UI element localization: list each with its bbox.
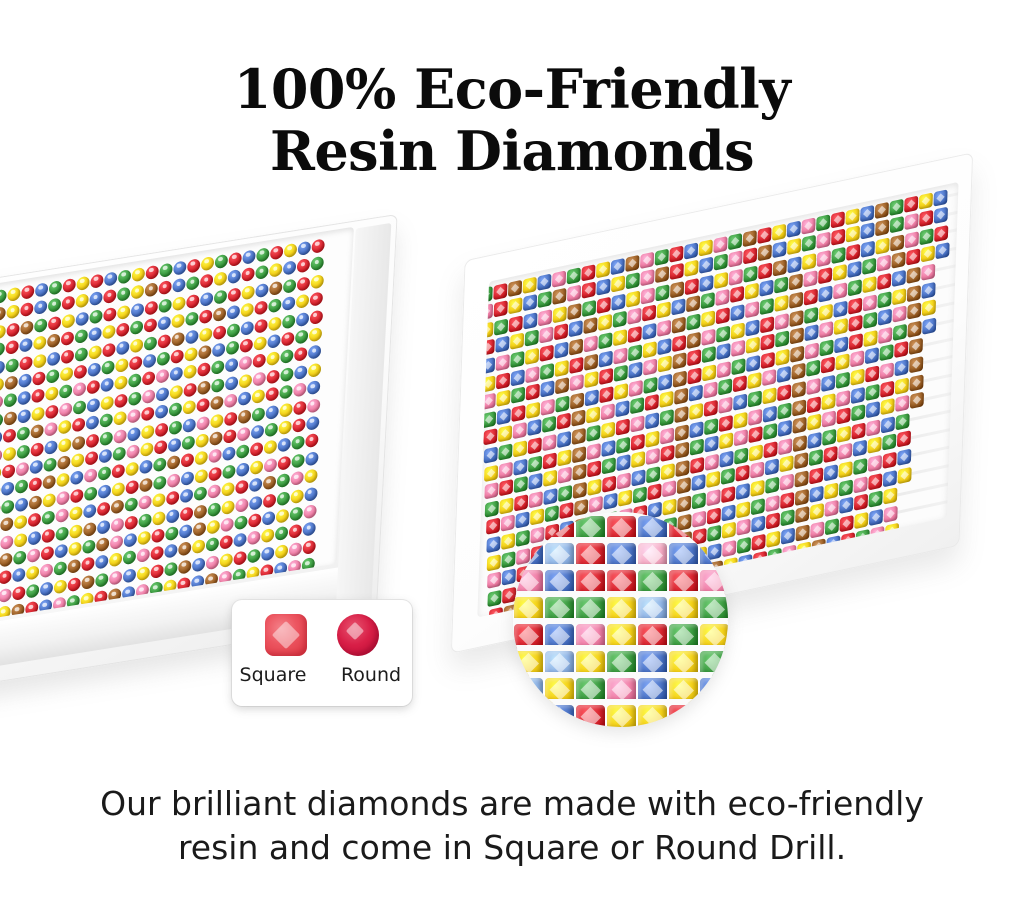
round-drill-bead xyxy=(123,568,137,583)
square-drill-bead xyxy=(838,443,852,460)
square-drill-bead xyxy=(921,263,935,280)
round-drill-bead xyxy=(145,282,159,297)
square-drill-bead xyxy=(573,481,587,498)
square-drill-bead xyxy=(686,295,700,312)
square-drill-bead xyxy=(789,292,803,309)
square-drill-bead xyxy=(867,419,881,436)
round-drill-bead xyxy=(166,508,180,523)
square-drill-bead xyxy=(626,272,640,289)
round-drill-bead xyxy=(210,413,224,428)
round-drill-bead xyxy=(71,435,85,450)
square-drill-bead xyxy=(675,442,689,459)
round-drill-bead xyxy=(141,406,155,421)
round-drill-bead xyxy=(276,491,290,506)
round-drill-bead xyxy=(226,322,240,337)
square-drill-bead xyxy=(523,294,537,311)
square-drill-bead xyxy=(877,273,891,290)
round-drill-bead xyxy=(223,446,237,461)
square-drill-bead xyxy=(542,416,556,433)
round-drill-bead xyxy=(145,265,159,280)
round-drill-bead xyxy=(292,435,306,450)
round-drill-bead xyxy=(131,302,145,317)
round-drill-bead xyxy=(268,298,282,313)
square-drill-bead xyxy=(660,427,674,444)
square-drill-bead xyxy=(906,267,920,284)
round-drill-bead xyxy=(76,293,90,308)
round-drill-bead xyxy=(26,583,40,598)
round-drill-bead xyxy=(12,568,26,583)
square-drill-bead xyxy=(586,425,600,442)
square-drill-bead xyxy=(852,422,866,439)
round-drill-bead xyxy=(225,376,239,391)
square-drill-bead xyxy=(879,344,893,361)
square-drill-bead xyxy=(744,283,758,300)
round-drill-bead xyxy=(15,497,29,512)
round-drill-bead xyxy=(103,307,117,322)
square-drill-bead xyxy=(717,361,731,378)
round-drill-bead xyxy=(86,397,100,412)
round-drill-bead xyxy=(251,424,265,439)
round-drill-bead xyxy=(110,517,124,532)
square-drill-bead xyxy=(831,211,845,228)
round-drill-bead xyxy=(42,510,56,525)
round-drill-bead xyxy=(279,402,293,417)
square-drill-bead xyxy=(794,470,808,487)
round-drill-bead xyxy=(144,300,158,315)
round-drill-bead xyxy=(30,442,44,457)
round-drill-bead xyxy=(17,426,31,441)
square-drill-bead xyxy=(776,348,790,365)
round-drill-bead xyxy=(208,484,222,499)
square-drill-bead xyxy=(735,465,749,482)
round-drill-bead xyxy=(221,482,235,497)
square-gem-icon xyxy=(265,614,307,656)
square-drill-bead xyxy=(718,397,732,414)
square-drill-bead xyxy=(780,473,794,490)
round-drill-bead xyxy=(58,437,72,452)
round-drill-bead xyxy=(124,532,138,547)
square-drill-bead xyxy=(513,440,527,457)
round-drill-bead xyxy=(114,393,128,408)
square-drill-bead xyxy=(514,494,528,511)
round-drill-bead xyxy=(139,477,153,492)
square-drill-bead xyxy=(553,306,567,323)
round-drill-bead xyxy=(293,400,307,415)
square-drill-bead xyxy=(672,316,686,333)
square-drill-bead xyxy=(904,195,918,212)
square-drill-bead xyxy=(646,466,660,483)
round-drill-bead xyxy=(249,477,263,492)
square-drill-bead xyxy=(486,518,500,535)
square-drill-bead xyxy=(645,430,659,447)
square-drill-bead xyxy=(485,500,499,517)
square-drill-bead xyxy=(525,348,539,365)
square-drill-bead xyxy=(552,270,566,287)
square-drill-bead xyxy=(821,375,835,392)
round-drill-bead xyxy=(127,426,141,441)
square-drill-bead xyxy=(661,463,675,480)
square-drill-bead xyxy=(775,313,789,330)
square-drill-bead xyxy=(690,439,704,456)
square-drill-bead xyxy=(600,404,614,421)
square-drill-bead xyxy=(728,232,742,249)
round-drill-bead xyxy=(59,384,73,399)
round-drill-bead xyxy=(48,298,62,313)
round-drill-bead xyxy=(250,460,264,475)
square-drill-bead xyxy=(908,338,922,355)
round-drill-bead xyxy=(168,437,182,452)
square-drill-bead xyxy=(825,500,839,517)
round-drill-bead xyxy=(41,546,55,561)
square-drill-bead xyxy=(919,210,933,227)
round-drill-bead xyxy=(32,388,46,403)
square-drill-bead xyxy=(749,426,763,443)
square-drill-bead xyxy=(625,254,639,271)
square-drill-bead xyxy=(865,365,879,382)
square-drill-bead xyxy=(495,336,509,353)
square-drill-bead xyxy=(833,300,847,317)
square-drill-bead xyxy=(764,441,778,458)
square-drill-bead xyxy=(628,344,642,361)
round-drill-bead xyxy=(206,537,220,552)
round-drill-bead xyxy=(54,543,68,558)
square-drill-bead xyxy=(612,311,626,328)
round-drill-bead xyxy=(268,316,282,331)
closeup-square-drill xyxy=(607,705,636,727)
square-drill-bead xyxy=(910,392,924,409)
square-drill-bead xyxy=(644,376,658,393)
round-drill-bead xyxy=(241,285,255,300)
square-drill-bead xyxy=(920,228,934,245)
round-drill-bead xyxy=(0,534,13,549)
round-drill-bead xyxy=(212,342,226,357)
square-drill-bead xyxy=(766,512,780,529)
square-drill-bead xyxy=(791,363,805,380)
round-drill-bead xyxy=(166,491,180,506)
square-drill-bead xyxy=(824,482,838,499)
square-drill-bead xyxy=(684,242,698,259)
square-drill-bead xyxy=(631,451,645,468)
round-drill-bead xyxy=(115,358,129,373)
square-drill-bead xyxy=(865,383,879,400)
round-drill-bead xyxy=(255,283,269,298)
square-drill-bead xyxy=(498,443,512,460)
square-drill-bead xyxy=(878,309,892,326)
square-drill-bead xyxy=(641,269,655,286)
round-drill-bead xyxy=(59,402,73,417)
square-drill-bead xyxy=(854,476,868,493)
round-drill-bead xyxy=(33,353,47,368)
round-drill-bead xyxy=(17,408,31,423)
square-drill-bead xyxy=(640,251,654,268)
square-drill-bead xyxy=(732,358,746,375)
round-drill-bead xyxy=(249,495,263,510)
square-drill-bead xyxy=(529,491,543,508)
round-drill-bead xyxy=(171,313,185,328)
round-drill-bead xyxy=(178,541,192,556)
square-drill-bead xyxy=(558,484,572,501)
round-drill-bead xyxy=(179,524,193,539)
round-drill-bead xyxy=(7,287,21,302)
round-drill-bead xyxy=(34,318,48,333)
square-drill-bead xyxy=(896,431,910,448)
round-drill-bead xyxy=(0,413,3,428)
closeup-square-drill xyxy=(545,705,574,727)
round-drill-bead xyxy=(62,296,76,311)
round-drill-bead xyxy=(293,382,307,397)
round-drill-bead xyxy=(192,539,206,554)
square-drill-bead xyxy=(571,410,585,427)
square-drill-bead xyxy=(581,264,595,281)
square-drill-bead xyxy=(496,372,510,389)
round-drill-bead xyxy=(96,537,110,552)
square-drill-bead xyxy=(884,505,898,522)
square-drill-bead xyxy=(686,313,700,330)
square-drill-bead xyxy=(514,476,528,493)
round-drill-bead xyxy=(21,284,35,299)
round-drill-bead xyxy=(0,307,6,322)
square-drill-bead xyxy=(905,231,919,248)
square-drill-bead xyxy=(558,467,572,484)
round-drill-bead xyxy=(304,469,318,484)
square-drill-bead xyxy=(495,354,509,371)
square-drill-bead xyxy=(834,318,848,335)
closeup-square-drill xyxy=(669,705,698,727)
round-drill-bead xyxy=(309,309,323,324)
round-drill-bead xyxy=(45,386,59,401)
round-drill-bead xyxy=(182,435,196,450)
round-drill-bead xyxy=(1,481,15,496)
square-drill-bead xyxy=(804,288,818,305)
round-drill-bead xyxy=(69,524,83,539)
square-drill-bead xyxy=(483,429,497,446)
square-drill-bead xyxy=(869,490,883,507)
square-drill-bead xyxy=(571,428,585,445)
square-drill-bead xyxy=(777,384,791,401)
round-drill-bead xyxy=(181,453,195,468)
round-drill-bead xyxy=(235,497,249,512)
square-drill-bead xyxy=(702,364,716,381)
square-drill-bead xyxy=(737,536,751,553)
round-drill-bead xyxy=(3,428,17,443)
square-drill-bead xyxy=(556,413,570,430)
round-drill-bead xyxy=(267,334,281,349)
round-drill-bead xyxy=(275,526,289,541)
round-drill-bead xyxy=(306,416,320,431)
square-drill-bead xyxy=(718,379,732,396)
square-drill-bead xyxy=(752,533,766,550)
round-drill-bead xyxy=(261,546,275,561)
square-drill-bead xyxy=(499,479,513,496)
round-drill-bead xyxy=(75,329,89,344)
round-drill-bead xyxy=(131,285,145,300)
round-drill-bead xyxy=(250,442,264,457)
square-drill-bead xyxy=(849,333,863,350)
square-drill-bead xyxy=(713,236,727,253)
square-drill-bead xyxy=(835,354,849,371)
round-drill-bead xyxy=(102,342,116,357)
square-drill-bead xyxy=(891,234,905,251)
square-drill-bead xyxy=(773,241,787,258)
round-drill-bead xyxy=(0,570,12,585)
square-drill-bead xyxy=(773,259,787,276)
square-drill-bead xyxy=(802,235,816,252)
round-drill-bead xyxy=(228,269,242,284)
round-drill-bead xyxy=(242,267,256,282)
round-drill-bead xyxy=(151,546,165,561)
round-drill-bead xyxy=(227,305,241,320)
round-drill-bead xyxy=(152,493,166,508)
round-drill-bead xyxy=(0,342,5,357)
square-drill-bead xyxy=(631,433,645,450)
round-drill-bead xyxy=(294,365,308,380)
square-drill-bead xyxy=(831,229,845,246)
square-drill-bead xyxy=(596,261,610,278)
drill-shape-legend: Square Round xyxy=(232,600,412,706)
square-drill-bead xyxy=(630,397,644,414)
round-drill-bead xyxy=(209,431,223,446)
legend-labels: Square Round xyxy=(232,664,412,686)
round-drill-bead xyxy=(308,362,322,377)
round-drill-bead xyxy=(46,369,60,384)
round-drill-bead xyxy=(289,524,303,539)
square-drill-bead xyxy=(485,482,499,499)
square-drill-bead xyxy=(847,261,861,278)
square-drill-bead xyxy=(806,378,820,395)
square-drill-bead xyxy=(688,367,702,384)
square-drill-bead xyxy=(851,404,865,421)
square-drill-bead xyxy=(584,353,598,370)
square-drill-bead xyxy=(614,365,628,382)
square-drill-bead xyxy=(882,434,896,451)
square-drill-bead xyxy=(644,394,658,411)
square-drill-bead xyxy=(805,324,819,341)
square-drill-bead xyxy=(795,488,809,505)
square-drill-bead xyxy=(758,244,772,261)
square-drill-bead xyxy=(792,381,806,398)
round-drill-bead xyxy=(239,356,253,371)
round-drill-bead xyxy=(167,473,181,488)
square-drill-bead xyxy=(787,238,801,255)
round-drill-bead xyxy=(142,389,156,404)
square-drill-bead xyxy=(524,330,538,347)
round-drill-bead xyxy=(7,304,21,319)
square-drill-bead xyxy=(907,302,921,319)
square-drill-bead xyxy=(745,319,759,336)
round-drill-bead xyxy=(270,245,284,260)
square-drill-bead xyxy=(570,392,584,409)
closeup-bead-row xyxy=(513,705,728,727)
square-drill-bead xyxy=(734,429,748,446)
square-drill-bead xyxy=(774,277,788,294)
square-drill-bead xyxy=(763,423,777,440)
round-drill-bead xyxy=(183,382,197,397)
square-drill-bead xyxy=(731,322,745,339)
round-drill-bead xyxy=(263,475,277,490)
square-drill-bead xyxy=(701,310,715,327)
square-drill-bead xyxy=(673,370,687,387)
round-drill-bead xyxy=(13,550,27,565)
round-drill-bead xyxy=(155,404,169,419)
legend-gems xyxy=(232,614,412,656)
round-drill-bead xyxy=(252,371,266,386)
round-drill-bead xyxy=(201,256,215,271)
closeup-square-drill xyxy=(576,705,605,727)
square-drill-bead xyxy=(544,488,558,505)
square-drill-bead xyxy=(761,334,775,351)
square-drill-bead xyxy=(840,515,854,532)
round-drill-bead xyxy=(253,353,267,368)
square-drill-bead xyxy=(730,286,744,303)
square-drill-bead xyxy=(655,248,669,265)
square-drill-bead xyxy=(890,216,904,233)
round-drill-bead xyxy=(98,484,112,499)
square-drill-bead xyxy=(494,318,508,335)
square-drill-bead xyxy=(875,201,889,218)
square-drill-bead xyxy=(598,314,612,331)
square-drill-bead xyxy=(692,492,706,509)
round-drill-bead xyxy=(219,553,233,568)
round-drill-bead xyxy=(180,488,194,503)
square-drill-bead xyxy=(881,416,895,433)
round-drill-bead xyxy=(40,581,54,596)
square-drill-bead xyxy=(790,327,804,344)
square-drill-bead xyxy=(818,267,832,284)
round-drill-bead xyxy=(212,325,226,340)
square-drill-bead xyxy=(685,260,699,277)
square-drill-bead xyxy=(867,437,881,454)
round-drill-bead xyxy=(262,493,276,508)
round-drill-bead xyxy=(0,289,7,304)
round-drill-bead xyxy=(56,508,70,523)
square-drill-bead xyxy=(588,478,602,495)
round-drill-bead xyxy=(132,267,146,282)
round-drill-bead xyxy=(101,378,115,393)
round-drill-bead xyxy=(84,468,98,483)
square-drill-bead xyxy=(807,396,821,413)
round-drill-bead xyxy=(186,294,200,309)
round-drill-bead xyxy=(98,466,112,481)
round-drill-bead xyxy=(220,535,234,550)
closeup-square-drill xyxy=(514,705,543,727)
round-drill-bead xyxy=(129,338,143,353)
square-drill-bead xyxy=(569,338,583,355)
square-drill-bead xyxy=(825,518,839,535)
round-drill-bead xyxy=(28,512,42,527)
round-drill-bead xyxy=(178,559,192,574)
round-drill-bead xyxy=(184,347,198,362)
round-drill-bead xyxy=(220,517,234,532)
square-drill-bead xyxy=(513,458,527,475)
square-drill-bead xyxy=(836,372,850,389)
square-drill-bead xyxy=(660,409,674,426)
square-drill-bead xyxy=(601,421,615,438)
square-drill-bead xyxy=(849,315,863,332)
round-drill-bead xyxy=(165,544,179,559)
round-drill-bead xyxy=(47,333,61,348)
round-drill-bead xyxy=(4,393,18,408)
square-drill-bead xyxy=(627,326,641,343)
square-drill-bead xyxy=(659,391,673,408)
square-drill-bead xyxy=(554,324,568,341)
round-drill-bead xyxy=(27,530,41,545)
square-drill-bead xyxy=(602,475,616,492)
square-drill-bead xyxy=(892,270,906,287)
round-drill-bead xyxy=(198,345,212,360)
square-drill-bead xyxy=(614,383,628,400)
round-drill-bead xyxy=(140,442,154,457)
round-drill-bead xyxy=(296,276,310,291)
